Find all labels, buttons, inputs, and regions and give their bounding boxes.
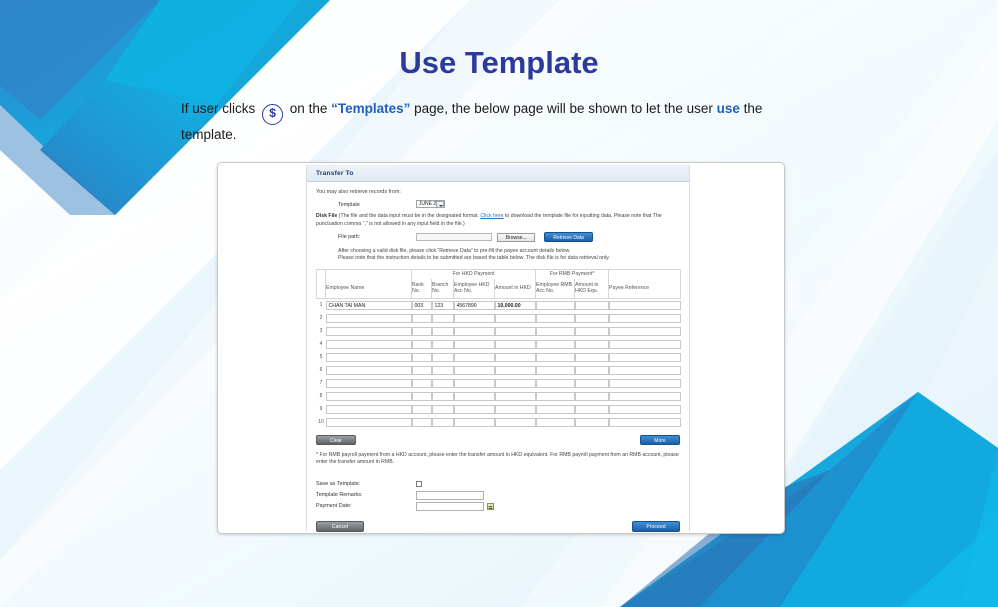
table-group-header-row: For HKD Payment For RMB Payment* [317,269,681,279]
cell-payee-ref [609,351,681,364]
cell-bank [412,312,432,325]
input-payee-ref[interactable] [609,366,681,375]
input-payee-ref[interactable] [609,301,681,310]
cell-amount-hkd [495,351,536,364]
form-button-bar: Cancel Proceed [316,521,680,532]
cell-bank [412,364,432,377]
screenshot-card: Transfer To You may also retrieve record… [217,162,785,534]
cell-bank [412,325,432,338]
input-branch[interactable] [432,340,454,349]
cell-amount-equ [575,298,609,312]
page-title: Use Template [0,45,998,81]
cell-bank: 003 [412,298,432,312]
cell-hkd-acc [454,312,495,325]
intro-text-mid: on the [290,101,328,116]
input-branch[interactable] [432,379,454,388]
row-index: 2 [317,312,326,325]
table-row: 8 [317,390,681,403]
cell-amount-hkd [495,403,536,416]
input-bank[interactable] [412,340,432,349]
template-remarks-row: Template Remarks: [316,490,680,501]
file-path-input[interactable] [416,233,492,241]
cell-branch [432,390,454,403]
input-bank[interactable] [412,327,432,336]
save-as-template-checkbox[interactable] [416,481,422,487]
chevron-down-icon [436,201,444,208]
input-bank[interactable] [412,405,432,414]
retrieve-data-button[interactable]: Retrieve Data [544,232,593,242]
input-amount-equ[interactable] [575,314,609,323]
input-name[interactable]: CHAN TAI MAN [326,301,412,310]
column-amount-hkd-equ: Amount in HKD Equ. [575,279,609,299]
input-name[interactable] [326,392,412,401]
input-amount-equ[interactable] [575,392,609,401]
input-hkd-acc[interactable] [454,392,495,401]
column-employee-hkd-acc: Employee HKD Acc No. [454,279,495,299]
cell-payee-ref [609,390,681,403]
input-amount-hkd[interactable] [495,353,536,362]
browse-button[interactable]: Browse... [497,233,535,242]
input-name[interactable] [326,353,412,362]
group-blank-index [317,269,326,279]
cell-hkd-acc [454,325,495,338]
column-payee-reference: Payee Reference [609,279,681,299]
input-rmb-acc[interactable] [536,301,575,310]
input-amount-hkd[interactable] [495,418,536,427]
cell-payee-ref [609,298,681,312]
input-amount-hkd[interactable] [495,379,536,388]
retrieve-instructions: After choosing a valid disk file, please… [338,248,680,263]
table-button-bar: Clear More [316,435,680,445]
table-row: 7 [317,377,681,390]
intro-use-emphasis: use [717,101,740,116]
input-amount-hkd[interactable] [495,405,536,414]
cell-rmb-acc [536,312,575,325]
cell-payee-ref [609,377,681,390]
input-bank[interactable]: 003 [412,301,432,310]
input-hkd-acc[interactable] [454,327,495,336]
input-rmb-acc[interactable] [536,327,575,336]
input-bank[interactable] [412,379,432,388]
cell-rmb-acc [536,298,575,312]
group-blank-payee [609,269,681,279]
clear-button[interactable]: Clear [316,435,356,445]
input-amount-equ[interactable] [575,327,609,336]
retrieve-lead-text: You may also retrieve records from: [316,189,680,195]
table-row: 1CHAN TAI MAN003123456789010,000.00 [317,298,681,312]
table-row: 10 [317,416,681,429]
cell-bank [412,338,432,351]
download-template-link[interactable]: Click here [480,213,503,219]
cell-rmb-acc [536,416,575,429]
input-branch[interactable] [432,392,454,401]
cell-hkd-acc [454,403,495,416]
table-column-header-row: Employee Name Bank No. Branch No. Employ… [317,279,681,299]
input-branch[interactable] [432,353,454,362]
cell-amount-equ [575,351,609,364]
input-branch[interactable] [432,327,454,336]
template-remarks-input[interactable] [416,491,484,500]
cell-hkd-acc [454,377,495,390]
cell-name [326,312,412,325]
cell-payee-ref [609,338,681,351]
cell-bank [412,403,432,416]
row-index: 6 [317,364,326,377]
file-path-label: File path: [338,234,360,240]
cell-amount-hkd [495,338,536,351]
cell-name [326,377,412,390]
panel-header: Transfer To [307,165,689,182]
input-hkd-acc[interactable] [454,418,495,427]
input-amount-hkd[interactable] [495,314,536,323]
save-options: Save as Template: Template Remarks: Paym… [316,479,680,512]
input-rmb-acc[interactable] [536,405,575,414]
cell-amount-equ [575,338,609,351]
intro-paragraph: If user clicks $ on the “Templates” page… [181,99,821,144]
template-row: Template JUNE 2016 [316,200,680,209]
input-amount-equ[interactable] [575,379,609,388]
cell-amount-hkd: 10,000.00 [495,298,536,312]
row-index: 1 [317,298,326,312]
column-bank-no: Bank No. [412,279,432,299]
cell-amount-hkd [495,377,536,390]
input-amount-hkd[interactable] [495,392,536,401]
input-name[interactable] [326,366,412,375]
cell-amount-equ [575,377,609,390]
cell-amount-equ [575,390,609,403]
row-index: 4 [317,338,326,351]
retrieve-instructions-line2: Please note that the instruction details… [338,255,680,262]
cell-hkd-acc [454,338,495,351]
table-row: 3 [317,325,681,338]
input-branch[interactable] [432,405,454,414]
template-label: Template [338,202,360,208]
input-rmb-acc[interactable] [536,418,575,427]
input-payee-ref[interactable] [609,392,681,401]
cell-payee-ref [609,416,681,429]
disk-file-text-a: (The file and the data input must be in … [339,213,479,219]
input-name[interactable] [326,418,412,427]
row-index: 3 [317,325,326,338]
input-amount-equ[interactable] [575,353,609,362]
cell-hkd-acc [454,351,495,364]
row-index: 9 [317,403,326,416]
cell-rmb-acc [536,377,575,390]
cell-bank [412,416,432,429]
cell-hkd-acc [454,416,495,429]
template-remarks-label: Template Remarks: [316,492,416,498]
input-branch[interactable] [432,314,454,323]
cell-rmb-acc [536,338,575,351]
cell-amount-equ [575,416,609,429]
input-branch[interactable]: 123 [432,301,454,310]
row-index: 5 [317,351,326,364]
table-row: 2 [317,312,681,325]
disk-file-description: Disk File (The file and the data input m… [316,213,680,228]
cell-amount-hkd [495,325,536,338]
input-name[interactable] [326,405,412,414]
table-row: 5 [317,351,681,364]
input-amount-hkd[interactable] [495,340,536,349]
cell-branch [432,351,454,364]
input-payee-ref[interactable] [609,327,681,336]
row-index: 7 [317,377,326,390]
input-amount-equ[interactable] [575,418,609,427]
column-employee-rmb-acc: Employee RMB Acc No. [536,279,575,299]
file-path-row: File path: Browse... Retrieve Data [316,232,680,242]
column-employee-name: Employee Name [326,279,412,299]
column-branch-no: Branch No. [432,279,454,299]
save-as-template-label: Save as Template: [316,481,416,487]
input-amount-equ[interactable] [575,340,609,349]
column-amount-hkd: Amount in HKD [495,279,536,299]
cell-payee-ref [609,312,681,325]
cell-branch [432,312,454,325]
input-amount-hkd[interactable] [495,366,536,375]
cell-branch [432,416,454,429]
group-blank-name [326,269,412,279]
group-rmb-payment: For RMB Payment* [536,269,609,279]
intro-text-pre: If user clicks [181,101,255,116]
cell-branch: 123 [432,298,454,312]
cell-rmb-acc [536,403,575,416]
table-row: 6 [317,364,681,377]
input-name[interactable] [326,340,412,349]
cell-rmb-acc [536,390,575,403]
cell-name [326,325,412,338]
group-hkd-payment: For HKD Payment [412,269,536,279]
calendar-icon[interactable] [487,503,494,510]
input-rmb-acc[interactable] [536,366,575,375]
cell-bank [412,351,432,364]
input-hkd-acc[interactable] [454,314,495,323]
cell-rmb-acc [536,325,575,338]
input-amount-equ[interactable] [575,301,609,310]
intro-text-post: page, the below page will be shown to le… [414,101,713,116]
cell-hkd-acc [454,390,495,403]
input-rmb-acc[interactable] [536,379,575,388]
cell-amount-hkd [495,312,536,325]
input-rmb-acc[interactable] [536,340,575,349]
cell-amount-hkd [495,416,536,429]
row-index: 10 [317,416,326,429]
input-hkd-acc[interactable] [454,353,495,362]
input-payee-ref[interactable] [609,353,681,362]
transfer-to-panel: Transfer To You may also retrieve record… [306,165,690,531]
input-payee-ref[interactable] [609,418,681,427]
cell-amount-equ [575,312,609,325]
column-index [317,279,326,299]
cell-amount-hkd [495,364,536,377]
cell-amount-equ [575,364,609,377]
cancel-button[interactable]: Cancel [316,521,364,532]
cell-name [326,338,412,351]
cell-branch [432,377,454,390]
input-amount-hkd[interactable] [495,327,536,336]
input-bank[interactable] [412,353,432,362]
proceed-button[interactable]: Proceed [632,521,680,532]
input-branch[interactable] [432,418,454,427]
cell-hkd-acc [454,364,495,377]
input-hkd-acc[interactable] [454,366,495,375]
cell-amount-equ [575,403,609,416]
input-amount-equ[interactable] [575,405,609,414]
row-index: 8 [317,390,326,403]
cell-branch [432,364,454,377]
cell-branch [432,338,454,351]
input-amount-equ[interactable] [575,366,609,375]
input-bank[interactable] [412,418,432,427]
cell-name [326,351,412,364]
input-name[interactable] [326,327,412,336]
cell-bank [412,377,432,390]
save-as-template-row: Save as Template: [316,479,680,490]
input-amount-hkd[interactable]: 10,000.00 [495,301,536,310]
template-select[interactable]: JUNE 2016 [416,200,446,209]
cell-rmb-acc [536,351,575,364]
input-name[interactable] [326,314,412,323]
payee-table: For HKD Payment For RMB Payment* Employe… [316,269,681,429]
payment-date-row: Payment Date: [316,501,680,512]
input-payee-ref[interactable] [609,405,681,414]
input-bank[interactable] [412,366,432,375]
rmb-footnote: * For RMB payroll payment from a HKD acc… [316,452,680,467]
cell-rmb-acc [536,364,575,377]
input-name[interactable] [326,379,412,388]
cell-payee-ref [609,403,681,416]
cell-name [326,364,412,377]
more-button[interactable]: More [640,435,680,445]
dollar-icon: $ [262,104,283,125]
retrieve-instructions-line1: After choosing a valid disk file, please… [338,248,680,255]
cell-bank [412,390,432,403]
table-row: 9 [317,403,681,416]
input-hkd-acc[interactable] [454,405,495,414]
input-hkd-acc[interactable]: 4567890 [454,301,495,310]
input-branch[interactable] [432,366,454,375]
cell-branch [432,325,454,338]
cell-hkd-acc: 4567890 [454,298,495,312]
input-bank[interactable] [412,392,432,401]
payment-date-label: Payment Date: [316,503,416,509]
cell-payee-ref [609,364,681,377]
payment-date-input[interactable] [416,502,484,511]
input-payee-ref[interactable] [609,314,681,323]
intro-templates-label: “Templates” [331,101,410,116]
cell-payee-ref [609,325,681,338]
cell-branch [432,403,454,416]
input-bank[interactable] [412,314,432,323]
table-row: 4 [317,338,681,351]
input-hkd-acc[interactable] [454,379,495,388]
input-rmb-acc[interactable] [536,392,575,401]
input-rmb-acc[interactable] [536,353,575,362]
cell-name [326,390,412,403]
input-rmb-acc[interactable] [536,314,575,323]
input-payee-ref[interactable] [609,379,681,388]
cell-name [326,416,412,429]
cell-name: CHAN TAI MAN [326,298,412,312]
cell-amount-equ [575,325,609,338]
cell-name [326,403,412,416]
disk-file-label: Disk File [316,213,337,219]
input-hkd-acc[interactable] [454,340,495,349]
cell-amount-hkd [495,390,536,403]
input-payee-ref[interactable] [609,340,681,349]
